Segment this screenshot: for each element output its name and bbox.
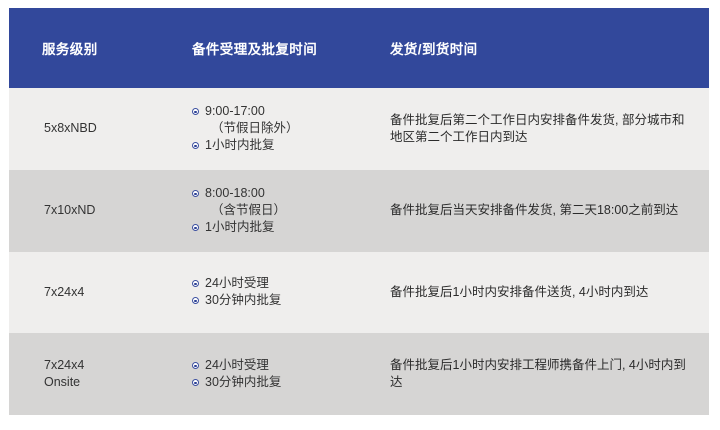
service-level-line-1: 7x24x4 — [44, 357, 184, 374]
list-item: 1小时内批复 — [192, 137, 382, 154]
cell-delivery-time: 备件批复后1小时内安排工程师携备件上门, 4小时内到达 — [390, 357, 690, 391]
cell-service-level: 5x8xNBD — [44, 120, 184, 137]
handling-time-note: （含节假日） — [205, 202, 382, 219]
service-level-line-1: 5x8xNBD — [44, 120, 184, 137]
cell-delivery-time: 备件批复后当天安排备件发货, 第二天18:00之前到达 — [390, 202, 690, 219]
handling-bullet-list: 24小时受理 30分钟内批复 — [192, 275, 382, 309]
handling-time-note: （节假日除外） — [205, 120, 382, 137]
handling-bullet-list: 24小时受理 30分钟内批复 — [192, 357, 382, 391]
approval-time-value: 30分钟内批复 — [205, 293, 281, 307]
radio-bullet-icon — [192, 190, 199, 197]
handling-time-value: 24小时受理 — [205, 276, 269, 290]
list-item: 9:00-17:00 （节假日除外） — [192, 103, 382, 137]
approval-time-value: 1小时内批复 — [205, 138, 274, 152]
cell-service-level: 7x24x4 Onsite — [44, 357, 184, 391]
list-item: 24小时受理 — [192, 275, 382, 292]
cell-handling-time: 24小时受理 30分钟内批复 — [192, 357, 382, 391]
cell-handling-time: 8:00-18:00 （含节假日） 1小时内批复 — [192, 185, 382, 236]
handling-time-value: 24小时受理 — [205, 358, 269, 372]
cell-handling-time: 9:00-17:00 （节假日除外） 1小时内批复 — [192, 103, 382, 154]
approval-time-value: 1小时内批复 — [205, 220, 274, 234]
radio-bullet-icon — [192, 379, 199, 386]
handling-time-value: 9:00-17:00 — [205, 104, 265, 118]
radio-bullet-icon — [192, 108, 199, 115]
service-level-line-1: 7x10xND — [44, 202, 184, 219]
cell-service-level: 7x10xND — [44, 202, 184, 219]
list-item: 30分钟内批复 — [192, 292, 382, 309]
delivery-time-text: 备件批复后第二个工作日内安排备件发货, 部分城市和地区第二个工作日内到达 — [390, 112, 690, 146]
table-header-row: 服务级别 备件受理及批复时间 发货/到货时间 — [9, 8, 709, 88]
delivery-time-text: 备件批复后1小时内安排工程师携备件上门, 4小时内到达 — [390, 357, 690, 391]
list-item: 1小时内批复 — [192, 219, 382, 236]
cell-delivery-time: 备件批复后第二个工作日内安排备件发货, 部分城市和地区第二个工作日内到达 — [390, 112, 690, 146]
radio-bullet-icon — [192, 297, 199, 304]
table-row: 7x10xND 8:00-18:00 （含节假日） 1小时内批复 备件批复后当天 — [9, 170, 709, 252]
delivery-time-text: 备件批复后当天安排备件发货, 第二天18:00之前到达 — [390, 202, 690, 219]
service-level-table: 服务级别 备件受理及批复时间 发货/到货时间 5x8xNBD 9:00-17:0… — [9, 8, 709, 415]
handling-time-value: 8:00-18:00 — [205, 186, 265, 200]
radio-bullet-icon — [192, 280, 199, 287]
radio-bullet-icon — [192, 362, 199, 369]
column-header-delivery-time: 发货/到货时间 — [390, 38, 478, 58]
table-row: 7x24x4 Onsite 24小时受理 30分钟内批复 备件批复后1小时内安排… — [9, 333, 709, 415]
list-item: 30分钟内批复 — [192, 374, 382, 391]
table-row: 7x24x4 24小时受理 30分钟内批复 备件批复后1小时内安排备件送货, 4… — [9, 252, 709, 334]
approval-time-value: 30分钟内批复 — [205, 375, 281, 389]
cell-delivery-time: 备件批复后1小时内安排备件送货, 4小时内到达 — [390, 284, 690, 301]
list-item: 24小时受理 — [192, 357, 382, 374]
table-body: 5x8xNBD 9:00-17:00 （节假日除外） 1小时内批复 备件批复后第 — [9, 88, 709, 415]
delivery-time-text: 备件批复后1小时内安排备件送货, 4小时内到达 — [390, 284, 690, 301]
cell-service-level: 7x24x4 — [44, 284, 184, 301]
table-row: 5x8xNBD 9:00-17:00 （节假日除外） 1小时内批复 备件批复后第 — [9, 88, 709, 170]
list-item: 8:00-18:00 （含节假日） — [192, 185, 382, 219]
radio-bullet-icon — [192, 142, 199, 149]
handling-bullet-list: 9:00-17:00 （节假日除外） 1小时内批复 — [192, 103, 382, 154]
cell-handling-time: 24小时受理 30分钟内批复 — [192, 275, 382, 309]
column-header-handling-time: 备件受理及批复时间 — [192, 38, 317, 58]
service-level-line-1: 7x24x4 — [44, 284, 184, 301]
handling-bullet-list: 8:00-18:00 （含节假日） 1小时内批复 — [192, 185, 382, 236]
radio-bullet-icon — [192, 224, 199, 231]
column-header-service-level: 服务级别 — [42, 38, 98, 58]
service-level-line-2: Onsite — [44, 374, 184, 391]
